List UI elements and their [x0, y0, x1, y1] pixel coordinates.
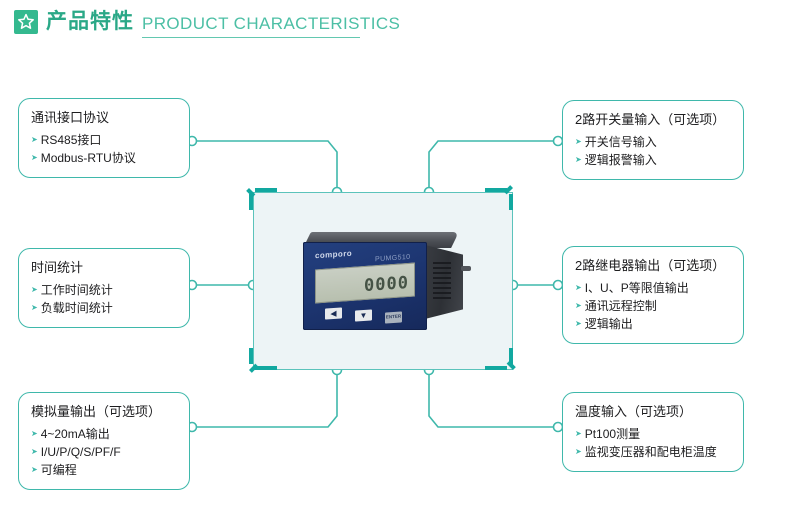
list-item: ➤ Modbus-RTU协议 — [31, 149, 177, 167]
product-photo-panel-meter: comporo PUMG510 0000 ◀ ▼ ENTER — [293, 232, 473, 340]
enter-label: ENTER — [386, 315, 401, 321]
corner-bracket-bottom-left — [249, 348, 277, 370]
card-temperature-input[interactable]: 温度输入（可选项） ➤ Pt100测量 ➤ 监视变压器和配电柜温度 — [562, 392, 744, 472]
card-title: 模拟量输出（可选项） — [31, 402, 177, 422]
bullet-triangle-icon: ➤ — [575, 315, 582, 333]
bullet-triangle-icon: ➤ — [31, 461, 38, 479]
list-item-label: I/U/P/Q/S/PF/F — [41, 443, 121, 461]
list-item-label: RS485接口 — [41, 131, 102, 149]
list-item-label: 逻辑输出 — [585, 315, 633, 333]
device-lcd-screen: 0000 — [315, 263, 415, 304]
bullet-triangle-icon: ➤ — [575, 425, 582, 443]
list-item-label: 4~20mA输出 — [41, 425, 110, 443]
list-item: ➤ I、U、P等限值输出 — [575, 279, 731, 297]
card-title: 时间统计 — [31, 258, 177, 278]
list-item: ➤ I/U/P/Q/S/PF/F — [31, 443, 177, 461]
bullet-triangle-icon: ➤ — [31, 299, 38, 317]
device-lcd-value: 0000 — [364, 273, 409, 296]
list-item-label: 负载时间统计 — [41, 299, 113, 317]
device-brand-label: comporo — [315, 249, 352, 261]
list-item: ➤ 逻辑输出 — [575, 315, 731, 333]
device-left-arrow-button[interactable]: ◀ — [325, 307, 342, 319]
list-item: ➤ Pt100测量 — [575, 425, 731, 443]
list-item: ➤ 负载时间统计 — [31, 299, 177, 317]
card-title: 2路继电器输出（可选项） — [575, 256, 731, 276]
list-item-label: 通讯远程控制 — [585, 297, 657, 315]
card-time-statistics[interactable]: 时间统计 ➤ 工作时间统计 ➤ 负载时间统计 — [18, 248, 190, 328]
corner-bracket-top-right — [485, 188, 513, 210]
device-terminal-nub — [461, 266, 471, 271]
bullet-triangle-icon: ➤ — [31, 425, 38, 443]
card-title: 通讯接口协议 — [31, 108, 177, 128]
list-item: ➤ 逻辑报警输入 — [575, 151, 731, 169]
list-item-label: 可编程 — [41, 461, 77, 479]
corner-bracket-bottom-right — [485, 348, 513, 370]
list-item: ➤ 监视变压器和配电柜温度 — [575, 443, 731, 461]
device-vent-slots — [433, 262, 453, 302]
list-item: ➤ 通讯远程控制 — [575, 297, 731, 315]
bullet-triangle-icon: ➤ — [575, 297, 582, 315]
bullet-triangle-icon: ➤ — [31, 281, 38, 299]
left-arrow-icon: ◀ — [330, 309, 336, 317]
bullet-triangle-icon: ➤ — [575, 279, 582, 297]
card-digital-input[interactable]: 2路开关量输入（可选项） ➤ 开关信号输入 ➤ 逻辑报警输入 — [562, 100, 744, 180]
list-item-label: Modbus-RTU协议 — [41, 149, 136, 167]
bullet-triangle-icon: ➤ — [575, 443, 582, 461]
list-item-label: I、U、P等限值输出 — [585, 279, 689, 297]
card-communication-protocol[interactable]: 通讯接口协议 ➤ RS485接口 ➤ Modbus-RTU协议 — [18, 98, 190, 178]
list-item: ➤ 可编程 — [31, 461, 177, 479]
list-item-label: 逻辑报警输入 — [585, 151, 657, 169]
list-item: ➤ RS485接口 — [31, 131, 177, 149]
bullet-triangle-icon: ➤ — [31, 149, 38, 167]
list-item: ➤ 工作时间统计 — [31, 281, 177, 299]
card-title: 2路开关量输入（可选项） — [575, 110, 731, 130]
list-item-label: 监视变压器和配电柜温度 — [585, 443, 717, 461]
list-item-label: 工作时间统计 — [41, 281, 113, 299]
card-relay-output[interactable]: 2路继电器输出（可选项） ➤ I、U、P等限值输出 ➤ 通讯远程控制 ➤ 逻辑输… — [562, 246, 744, 344]
card-analog-output[interactable]: 模拟量输出（可选项） ➤ 4~20mA输出 ➤ I/U/P/Q/S/PF/F ➤… — [18, 392, 190, 490]
bullet-triangle-icon: ➤ — [31, 443, 38, 461]
list-item-label: Pt100测量 — [585, 425, 640, 443]
bullet-triangle-icon: ➤ — [575, 151, 582, 169]
card-title: 温度输入（可选项） — [575, 402, 731, 422]
list-item: ➤ 开关信号输入 — [575, 133, 731, 151]
bullet-triangle-icon: ➤ — [31, 131, 38, 149]
device-model-label: PUMG510 — [375, 254, 410, 263]
device-front-panel: comporo PUMG510 0000 ◀ ▼ ENTER — [303, 242, 427, 330]
device-down-arrow-button[interactable]: ▼ — [355, 309, 372, 321]
device-enter-button[interactable]: ENTER — [385, 311, 402, 323]
product-characteristics-diagram: 产品特性 PRODUCT CHARACTERISTICS — [0, 0, 800, 513]
down-arrow-icon: ▼ — [360, 311, 368, 320]
list-item-label: 开关信号输入 — [585, 133, 657, 151]
list-item: ➤ 4~20mA输出 — [31, 425, 177, 443]
corner-bracket-top-left — [249, 188, 277, 210]
bullet-triangle-icon: ➤ — [575, 133, 582, 151]
